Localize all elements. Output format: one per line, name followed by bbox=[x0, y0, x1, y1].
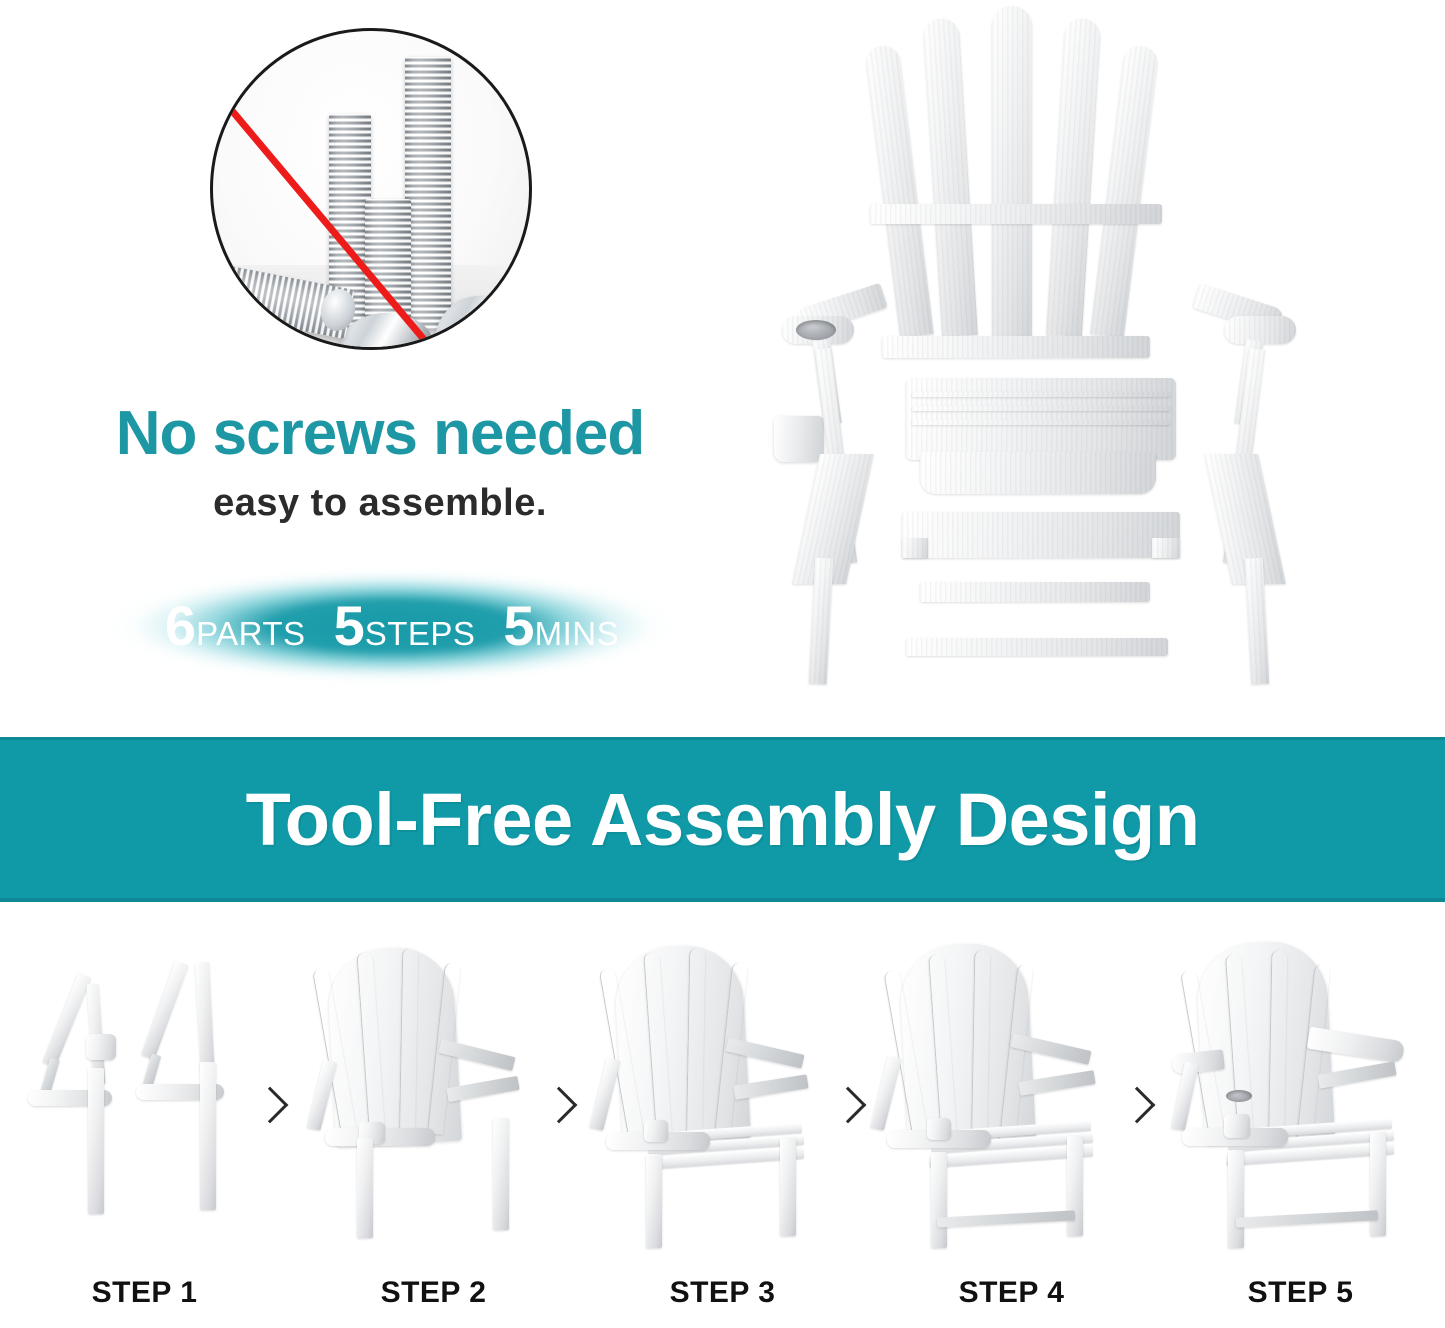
stat-unit: PARTS bbox=[196, 615, 305, 653]
back-lower-rail bbox=[882, 336, 1150, 358]
banner-title: Tool-Free Assembly Design bbox=[246, 777, 1200, 862]
exploded-parts-diagram bbox=[760, 0, 1320, 700]
stat-mins: 5 MINS bbox=[503, 598, 619, 654]
cup-holder-cylinder bbox=[774, 416, 824, 462]
back-slat-line bbox=[1268, 950, 1287, 1142]
cross-bar-part bbox=[920, 582, 1150, 602]
step-2-label: STEP 2 bbox=[289, 1276, 578, 1310]
back-slat bbox=[1046, 17, 1101, 337]
side-frame-left bbox=[26, 972, 146, 1222]
stat-number: 6 bbox=[165, 598, 196, 654]
chair-complete bbox=[1172, 942, 1434, 1242]
stat-number: 5 bbox=[334, 598, 365, 654]
rail-notch bbox=[1152, 538, 1180, 558]
section-banner: Tool-Free Assembly Design bbox=[0, 737, 1445, 902]
support-rail-part bbox=[902, 512, 1180, 558]
seat-front-edge bbox=[920, 452, 1156, 494]
cross-brace bbox=[1236, 1210, 1378, 1227]
armrest-front bbox=[1224, 316, 1296, 344]
back-slat bbox=[1090, 44, 1159, 338]
frame-post bbox=[195, 962, 215, 1079]
step-3-illustration bbox=[578, 942, 867, 1242]
chair-back-part bbox=[900, 8, 1130, 358]
cross-brace bbox=[937, 1210, 1075, 1227]
seat-groove bbox=[912, 420, 1170, 425]
front-leg-left bbox=[931, 1152, 947, 1248]
cup-holder bbox=[927, 1118, 951, 1140]
step-4: STEP 4 bbox=[867, 902, 1156, 1328]
banner-top-edge bbox=[0, 737, 1445, 740]
seat-part bbox=[906, 378, 1176, 460]
chair-partial bbox=[307, 942, 557, 1242]
stat-number: 5 bbox=[503, 598, 534, 654]
no-screws-photo bbox=[210, 28, 532, 350]
left-side-frame-part bbox=[778, 296, 888, 686]
cross-bar-part bbox=[906, 638, 1168, 656]
stat-unit: STEPS bbox=[365, 615, 476, 653]
step-4-illustration bbox=[867, 942, 1156, 1242]
step-4-label: STEP 4 bbox=[867, 1276, 1156, 1310]
seat-groove bbox=[912, 392, 1170, 397]
frame-arm bbox=[43, 973, 92, 1067]
subheadline: easy to assemble. bbox=[0, 482, 760, 525]
top-section: No screws needed easy to assemble. 6 PAR… bbox=[0, 0, 1445, 737]
cup-holder bbox=[644, 1120, 668, 1142]
cup-holder-hole-icon bbox=[796, 320, 836, 340]
front-leg-right bbox=[493, 1118, 509, 1230]
step-5-label: STEP 5 bbox=[1156, 1276, 1445, 1310]
back-slat bbox=[992, 6, 1032, 336]
back-slat-line bbox=[399, 948, 418, 1134]
front-leg bbox=[200, 1062, 216, 1210]
front-leg-left bbox=[357, 1138, 373, 1238]
step-3: STEP 3 bbox=[578, 902, 867, 1328]
step-5: STEP 5 bbox=[1156, 902, 1445, 1328]
front-leg-left bbox=[646, 1154, 662, 1248]
left-arm-rail bbox=[589, 1057, 620, 1130]
back-slat bbox=[923, 17, 978, 337]
front-leg-left bbox=[1228, 1150, 1244, 1248]
stats-badge: 6 PARTS 5 STEPS 5 MINS bbox=[92, 556, 692, 696]
bolt-icon bbox=[405, 57, 451, 329]
stat-parts: 6 PARTS bbox=[165, 598, 306, 654]
cup-holder bbox=[86, 1034, 116, 1060]
step-1-label: STEP 1 bbox=[0, 1276, 289, 1310]
frame-arm bbox=[141, 961, 188, 1060]
stats-list: 6 PARTS 5 STEPS 5 MINS bbox=[92, 556, 692, 696]
chair-partial bbox=[592, 942, 842, 1242]
rail-notch bbox=[902, 538, 928, 558]
back-upper-rail bbox=[870, 204, 1162, 224]
side-frame-right bbox=[136, 960, 256, 1216]
step-2-illustration bbox=[289, 942, 578, 1242]
chair-partial bbox=[875, 942, 1131, 1242]
front-leg-right bbox=[780, 1138, 796, 1236]
cup-holder-hole-icon bbox=[1226, 1090, 1252, 1102]
left-arm-rail bbox=[870, 1055, 901, 1130]
front-leg-right bbox=[1067, 1136, 1083, 1236]
step-1-illustration bbox=[0, 942, 289, 1242]
back-slat-line bbox=[971, 950, 990, 1140]
step-2: STEP 2 bbox=[289, 902, 578, 1328]
step-5-illustration bbox=[1156, 942, 1445, 1242]
frame-brace bbox=[792, 454, 874, 584]
step-1: STEP 1 bbox=[0, 902, 289, 1328]
headline: No screws needed bbox=[0, 398, 760, 469]
right-side-frame-part bbox=[1192, 296, 1302, 686]
back-slat-line bbox=[686, 948, 705, 1136]
assembly-steps-section: STEP 1 STEP 2 bbox=[0, 902, 1445, 1328]
front-leg bbox=[88, 1068, 104, 1214]
seat-groove bbox=[912, 406, 1170, 411]
stat-unit: MINS bbox=[535, 615, 620, 653]
cup-holder bbox=[1224, 1114, 1250, 1138]
stat-steps: 5 STEPS bbox=[334, 598, 476, 654]
step-3-label: STEP 3 bbox=[578, 1276, 867, 1310]
